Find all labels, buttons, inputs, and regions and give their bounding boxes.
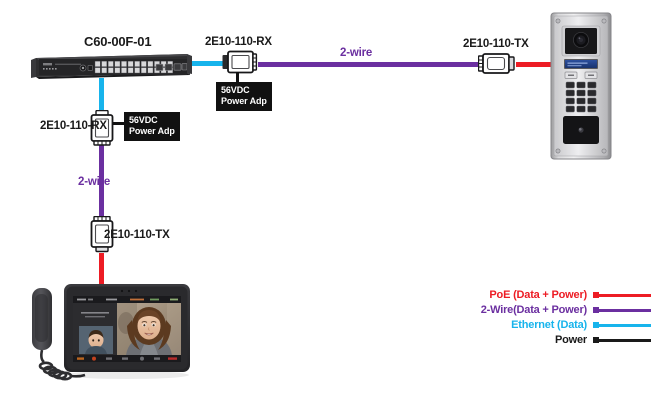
legend-item-power: Power: [370, 333, 655, 347]
legend-label-power: Power: [555, 334, 587, 346]
cable-2wire-top-run: [258, 62, 479, 67]
power-adapter-tag-line1: 56VDC: [221, 85, 267, 96]
legend-label-2wire: 2-Wire(Data + Power): [481, 304, 587, 316]
switch-icon: [30, 52, 193, 80]
switch-label: C60-00F-01: [84, 34, 151, 49]
legend-swatch-power: [593, 335, 655, 345]
converter-rx-left-label: 2E10-110-RX: [40, 120, 107, 132]
cable-ethernet-switch-to-rx-left: [99, 78, 104, 112]
door-intercom-station[interactable]: [550, 12, 612, 160]
power-adapter-tag-rx-left: 56VDC Power Adp: [124, 112, 180, 141]
cable-label-2wire-top: 2-wire: [340, 47, 372, 59]
converter-tx-right-label: 2E10-110-TX: [463, 38, 529, 50]
converter-tx-bottom-label: 2E10-110-TX: [104, 229, 170, 241]
power-adapter-tag-rx-top: 56VDC Power Adp: [216, 82, 272, 111]
power-adapter-tag-line2: Power Adp: [221, 96, 267, 107]
video-phone-icon: [22, 276, 194, 388]
converter-tx-right[interactable]: [478, 52, 518, 78]
legend-swatch-poe: [593, 290, 655, 300]
cable-ethernet-switch-to-rx-top: [190, 61, 224, 66]
network-switch[interactable]: [30, 52, 193, 80]
legend-swatch-ethernet: [593, 320, 655, 330]
converter-rx-top-label: 2E10-110-RX: [205, 36, 272, 48]
intercom-icon: [550, 12, 612, 160]
legend-item-2wire: 2-Wire(Data + Power): [370, 303, 655, 317]
rx-module-icon: [222, 48, 262, 81]
converter-rx-top[interactable]: [222, 48, 262, 81]
legend-label-ethernet: Ethernet (Data): [511, 319, 587, 331]
video-intercom-phone[interactable]: [22, 276, 194, 388]
network-diagram-canvas: C60-00F-01 2E10-110-RX 56VDC Power Adp 2…: [0, 0, 661, 400]
legend-item-poe: PoE (Data + Power): [370, 288, 655, 302]
tx-module-icon: [478, 52, 518, 78]
power-adapter-tag-line1: 56VDC: [129, 115, 175, 126]
legend: PoE (Data + Power) 2-Wire(Data + Power) …: [370, 288, 655, 348]
cable-label-2wire-left: 2-wire: [78, 176, 110, 188]
legend-swatch-2wire: [593, 305, 655, 315]
legend-item-ethernet: Ethernet (Data): [370, 318, 655, 332]
power-adapter-tag-line2: Power Adp: [129, 126, 175, 137]
legend-label-poe: PoE (Data + Power): [489, 289, 587, 301]
